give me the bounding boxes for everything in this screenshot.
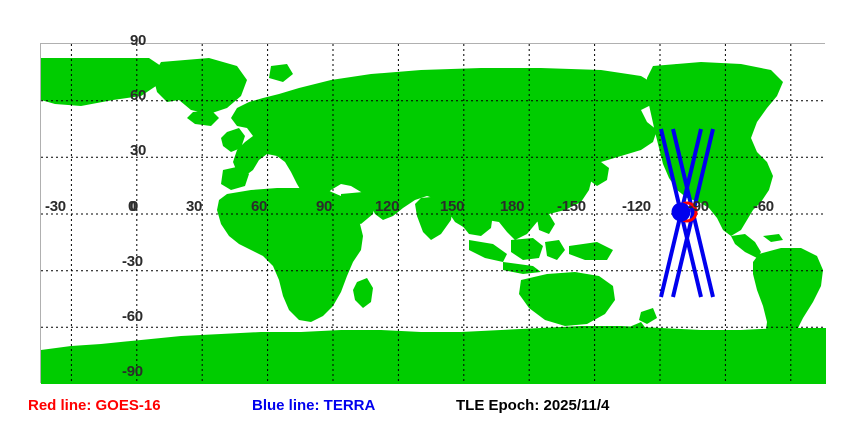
lon-tick-90: 90 [316, 199, 332, 214]
lat-tick--90: -90 [122, 364, 143, 379]
lon-tick-120: 120 [375, 199, 399, 214]
lon-tick-180: 180 [500, 199, 524, 214]
lon-tick--150: -150 [557, 199, 586, 214]
legend-tle-epoch: TLE Epoch: 2025/11/4 [456, 398, 609, 413]
lon-tick-60: 60 [251, 199, 267, 214]
lon-tick--90: -90 [688, 199, 709, 214]
lat-tick-60: 60 [130, 88, 146, 103]
satellite-ground-track-map: 90 60 30 0 -30 -60 -90 -30 0 30 60 90 12… [0, 0, 850, 425]
lat-tick-30: 30 [130, 143, 146, 158]
lon-tick--60: -60 [753, 199, 774, 214]
legend-blue-line: Blue line: TERRA [252, 398, 375, 413]
map-legend: Red line: GOES-16 Blue line: TERRA TLE E… [0, 392, 850, 422]
lon-tick--120: -120 [622, 199, 651, 214]
lon-tick-0: 0 [128, 199, 136, 214]
lat-tick--30: -30 [122, 254, 143, 269]
lon-tick-30: 30 [186, 199, 202, 214]
lon-tick--30: -30 [45, 199, 66, 214]
lat-tick--60: -60 [122, 309, 143, 324]
lon-tick-150: 150 [440, 199, 464, 214]
legend-red-line: Red line: GOES-16 [28, 398, 161, 413]
lat-tick-90: 90 [130, 33, 146, 48]
